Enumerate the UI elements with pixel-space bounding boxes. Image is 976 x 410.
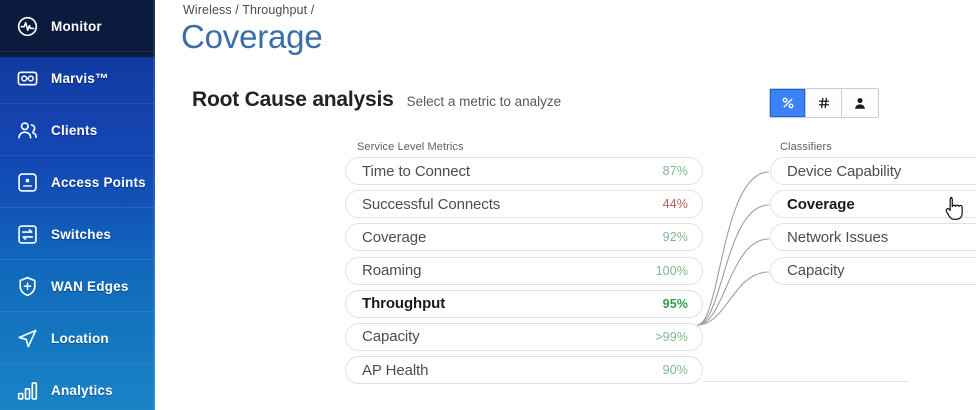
sidebar-item-label: Location — [51, 331, 109, 346]
root-cause-analysis-header: Root Cause analysis Select a metric to a… — [192, 88, 561, 112]
service-level-metrics-list: Time to Connect 87% Successful Connects … — [345, 157, 703, 389]
toggle-percent[interactable] — [770, 89, 806, 117]
classifier-name: Capacity — [787, 262, 976, 279]
metric-row-roaming[interactable]: Roaming 100% — [345, 257, 703, 285]
classifier-row-coverage[interactable]: Coverage 0% — [770, 190, 976, 218]
classifier-name: Device Capability — [787, 163, 976, 180]
sidebar-item-marvis[interactable]: Marvis™ — [0, 52, 155, 104]
metric-value: 92% — [663, 230, 688, 244]
metric-value: 100% — [656, 264, 688, 278]
metric-value: >99% — [655, 330, 688, 344]
classifier-name: Network Issues — [787, 229, 976, 246]
sidebar-item-label: Switches — [51, 227, 111, 242]
sidebar-item-monitor[interactable]: Monitor — [0, 0, 155, 52]
metric-value: 87% — [663, 164, 688, 178]
toggle-users[interactable] — [842, 89, 878, 117]
breadcrumb[interactable]: Wireless / Throughput / — [183, 3, 314, 17]
sidebar-item-label: Analytics — [51, 383, 113, 398]
classifier-row-capacity[interactable]: Capacity 100% — [770, 257, 976, 285]
wan-edge-icon — [14, 273, 40, 299]
sidebar-item-location[interactable]: Location — [0, 312, 155, 364]
metric-value: 95% — [663, 297, 688, 311]
metric-name: Time to Connect — [362, 163, 663, 180]
access-point-icon — [14, 169, 40, 195]
metric-name: Coverage — [362, 229, 663, 246]
sidebar-item-label: Access Points — [51, 175, 146, 190]
metric-row-ap-health[interactable]: AP Health 90% — [345, 356, 703, 384]
bottom-divider — [703, 381, 908, 382]
sidebar-item-clients[interactable]: Clients — [0, 104, 155, 156]
metric-unit-toggle-group[interactable] — [769, 88, 879, 118]
metric-name: Successful Connects — [362, 196, 663, 213]
metric-row-successful-connects[interactable]: Successful Connects 44% — [345, 190, 703, 218]
service-level-metrics-label: Service Level Metrics — [357, 141, 464, 153]
percent-icon — [781, 96, 795, 110]
metric-row-throughput[interactable]: Throughput 95% — [345, 290, 703, 318]
metric-name: Throughput — [362, 295, 663, 312]
sidebar-item-label: Marvis™ — [51, 71, 109, 86]
rca-subtitle: Select a metric to analyze — [407, 94, 562, 109]
metric-row-capacity[interactable]: Capacity >99% — [345, 323, 703, 351]
sidebar-item-access-points[interactable]: Access Points — [0, 156, 155, 208]
metric-name: AP Health — [362, 362, 663, 379]
classifier-name: Coverage — [787, 196, 976, 213]
marvis-icon — [14, 65, 40, 91]
metric-row-time-to-connect[interactable]: Time to Connect 87% — [345, 157, 703, 185]
page-title: Coverage — [181, 17, 323, 57]
sidebar-item-label: Clients — [51, 123, 97, 138]
monitor-icon — [14, 13, 40, 39]
classifier-row-device-capability[interactable]: Device Capability 0% — [770, 157, 976, 185]
sidebar-item-label: WAN Edges — [51, 279, 129, 294]
metric-value: 44% — [663, 197, 688, 211]
metric-name: Capacity — [362, 328, 655, 345]
sidebar-item-switches[interactable]: Switches — [0, 208, 155, 260]
hash-icon — [817, 96, 831, 110]
sidebar-item-label: Monitor — [51, 19, 102, 34]
sidebar-item-analytics[interactable]: Analytics — [0, 364, 155, 410]
toggle-count[interactable] — [806, 89, 842, 117]
switch-icon — [14, 221, 40, 247]
classifiers-list: Device Capability 0% Coverage 0% Network… — [770, 157, 976, 290]
sidebar-item-wan-edges[interactable]: WAN Edges — [0, 260, 155, 312]
metric-value: 90% — [663, 363, 688, 377]
sidebar: Monitor Marvis™ Clients — [0, 0, 155, 410]
analytics-icon — [14, 377, 40, 403]
classifier-row-network-issues[interactable]: Network Issues 0% — [770, 223, 976, 251]
location-icon — [14, 325, 40, 351]
metric-name: Roaming — [362, 262, 656, 279]
user-icon — [853, 96, 867, 111]
rca-title: Root Cause analysis — [192, 88, 394, 112]
main-content: Wireless / Throughput / Coverage Root Ca… — [155, 0, 976, 410]
metric-row-coverage[interactable]: Coverage 92% — [345, 223, 703, 251]
clients-icon — [14, 117, 40, 143]
classifiers-label: Classifiers — [780, 141, 832, 153]
